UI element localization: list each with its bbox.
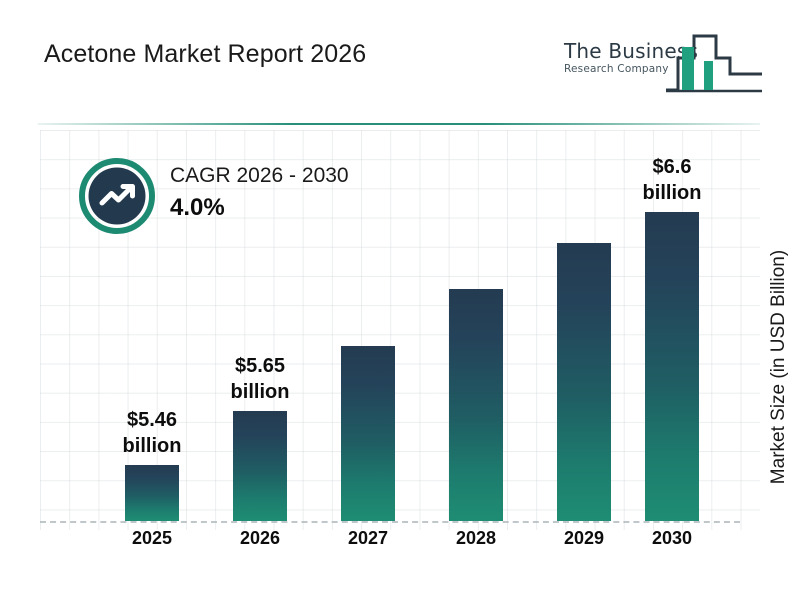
bar-rect-2029[interactable] — [557, 243, 611, 521]
trending-up-icon — [78, 157, 156, 235]
x-tick-2027: 2027 — [328, 528, 408, 549]
cagr-text-block: CAGR 2026 - 2030 4.0% — [170, 161, 400, 225]
bar-rect-2025[interactable] — [125, 465, 179, 521]
bar-value-unit-2025: billion — [123, 433, 182, 459]
bar-value-amount-2025: $5.46 — [123, 407, 182, 433]
bar-rect-2026[interactable] — [233, 411, 287, 521]
bar-value-label-2030: $6.6billion — [643, 154, 702, 206]
y-axis-title: Market Size (in USD Billion) — [764, 212, 794, 522]
x-tick-2025: 2025 — [112, 528, 192, 549]
x-tick-2030: 2030 — [632, 528, 712, 549]
cagr-value: 4.0% — [170, 191, 400, 225]
chart-page: Acetone Market Report 2026 The Business … — [0, 0, 800, 600]
company-logo: The Business Research Company — [564, 28, 764, 98]
x-tick-2026: 2026 — [220, 528, 300, 549]
header-divider — [38, 123, 760, 125]
cagr-period-label: CAGR 2026 - 2030 — [170, 161, 400, 191]
bar-rect-2027[interactable] — [341, 346, 395, 521]
bar-chart-logo-mark — [664, 28, 764, 98]
x-axis-ticks: 202520262027202820292030 — [40, 528, 760, 560]
bar-value-label-2026: $5.65billion — [231, 353, 290, 405]
x-tick-2029: 2029 — [544, 528, 624, 549]
cagr-badge: CAGR 2026 - 2030 4.0% — [78, 155, 398, 245]
bar-value-amount-2026: $5.65 — [231, 353, 290, 379]
bar-rect-2030[interactable] — [645, 212, 699, 521]
bar-rect-2028[interactable] — [449, 289, 503, 521]
page-title: Acetone Market Report 2026 — [44, 40, 366, 69]
header: Acetone Market Report 2026 The Business … — [0, 0, 800, 124]
y-axis-title-text: Market Size (in USD Billion) — [768, 250, 790, 484]
x-tick-2028: 2028 — [436, 528, 516, 549]
bar-value-unit-2030: billion — [643, 180, 702, 206]
bar-value-amount-2030: $6.6 — [643, 154, 702, 180]
bar-value-unit-2026: billion — [231, 379, 290, 405]
bar-value-label-2025: $5.46billion — [123, 407, 182, 459]
